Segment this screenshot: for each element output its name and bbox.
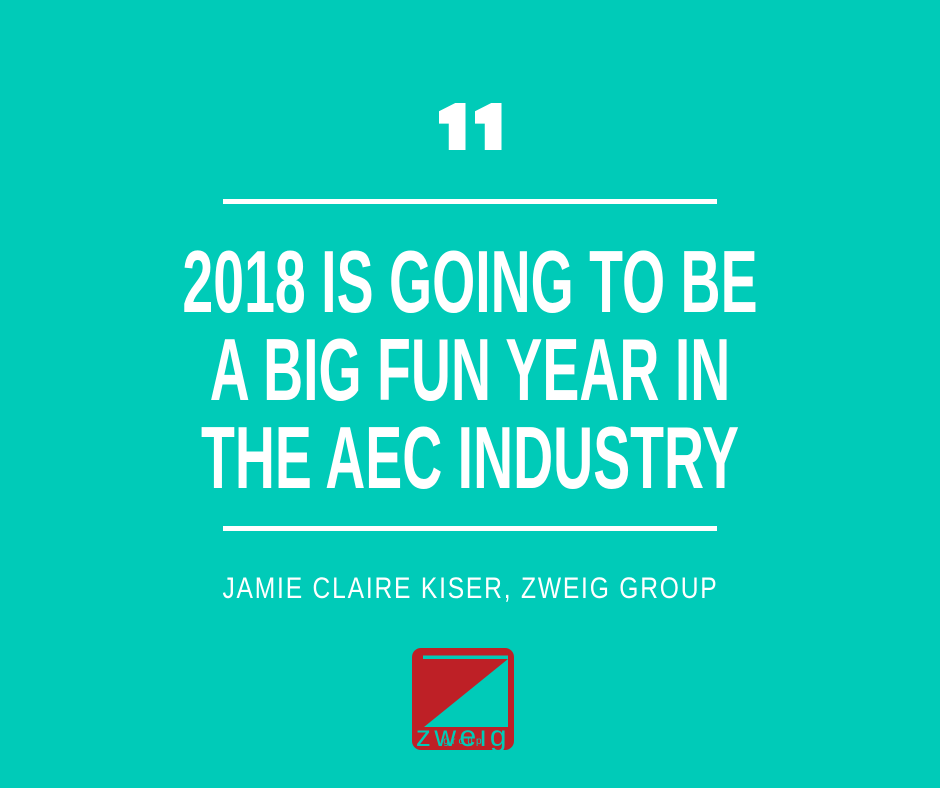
quote-poster: 2018 IS GOING TO BE A BIG FUN YEAR IN TH… bbox=[0, 0, 940, 788]
svg-text:group: group bbox=[443, 736, 485, 747]
headline-line-1: 2018 IS GOING TO BE bbox=[174, 238, 766, 326]
zweig-group-logo: zweig group bbox=[412, 648, 514, 750]
divider-bottom bbox=[223, 526, 717, 531]
zweig-group-logo-icon: zweig group bbox=[412, 648, 514, 750]
headline-line-3: THE AEC INDUSTRY bbox=[174, 414, 766, 502]
attribution-text: JAMIE CLAIRE KISER, ZWEIG GROUP bbox=[222, 572, 718, 606]
headline-line-2: A BIG FUN YEAR IN bbox=[174, 326, 766, 414]
divider-top bbox=[223, 199, 717, 204]
attribution: JAMIE CLAIRE KISER, ZWEIG GROUP bbox=[0, 572, 940, 606]
quote-mark-icon bbox=[0, 103, 940, 151]
quote-glyph-left bbox=[439, 103, 466, 150]
headline: 2018 IS GOING TO BE A BIG FUN YEAR IN TH… bbox=[0, 238, 940, 502]
quote-glyph-right bbox=[475, 103, 502, 150]
